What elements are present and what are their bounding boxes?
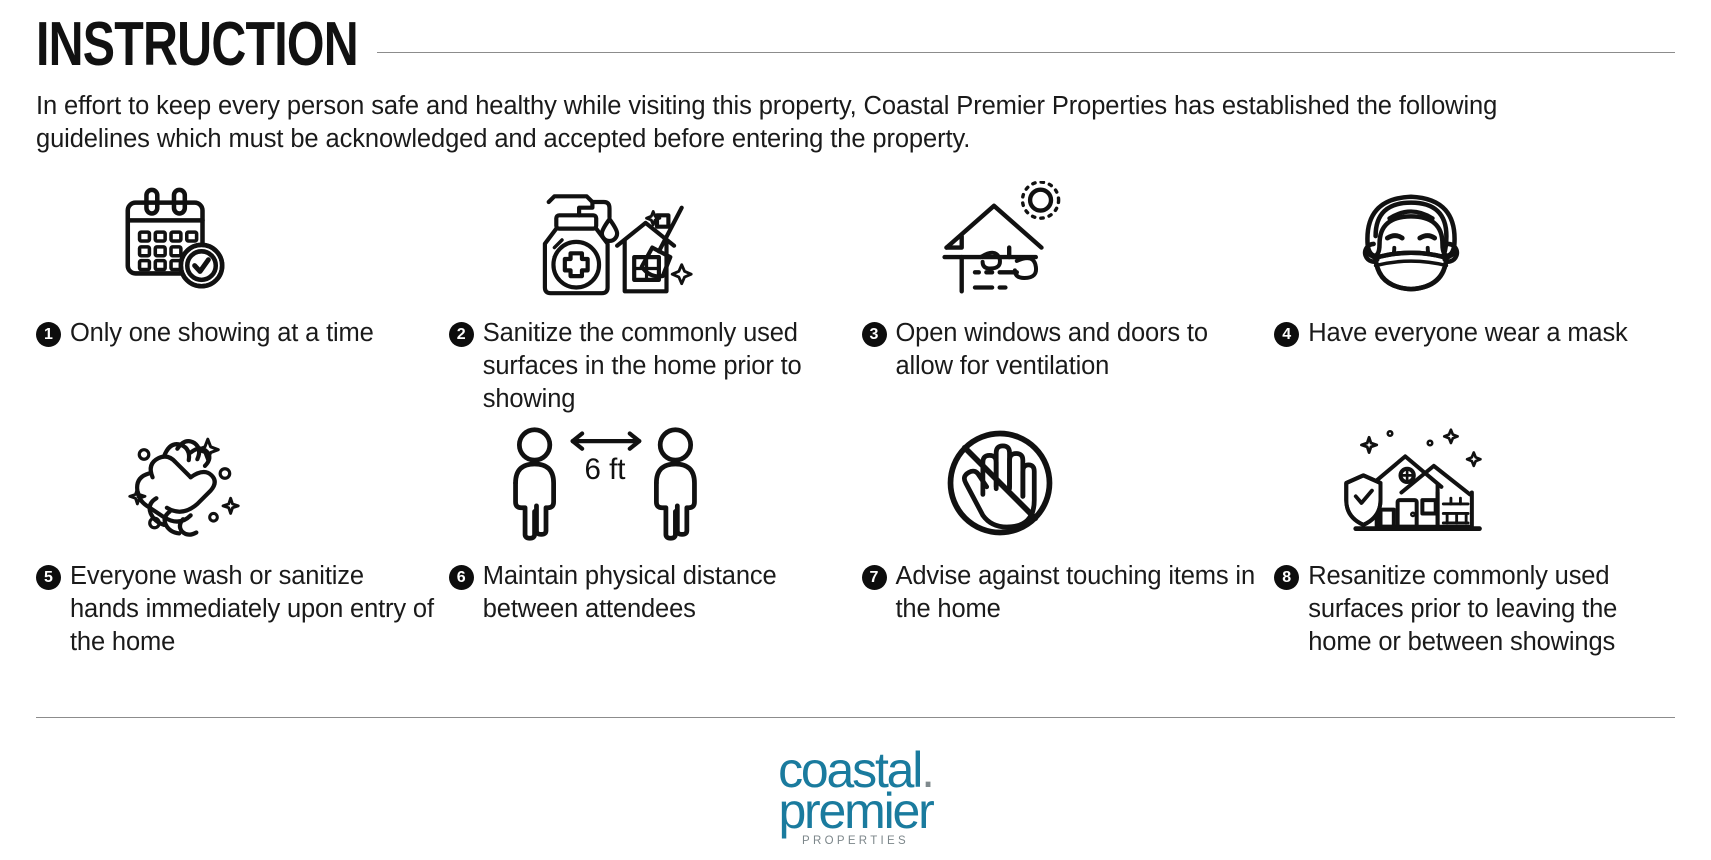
item-label-2: Sanitize the commonly used surfaces in t… xyxy=(483,317,850,416)
guideline-item-2: 2 Sanitize the commonly used surfaces in… xyxy=(449,181,850,416)
guideline-item-1: 1 Only one showing at a time xyxy=(36,181,437,416)
instruction-page: INSTRUCTION In effort to keep every pers… xyxy=(0,0,1711,860)
icon-container-6: 6 ft xyxy=(449,424,850,542)
item-label-3: Open windows and doors to allow for vent… xyxy=(896,317,1263,383)
coastal-premier-logo: coastal. premier PROPERTIES xyxy=(36,718,1675,860)
item-label-8: Resanitize commonly used surfaces prior … xyxy=(1308,560,1675,659)
no-touching-hand-icon xyxy=(940,424,1060,542)
icon-container-4 xyxy=(1274,181,1675,299)
icon-container-1 xyxy=(36,181,437,299)
face-with-mask-icon xyxy=(1352,181,1470,299)
page-header: INSTRUCTION xyxy=(36,0,1675,76)
item-label-7: Advise against touching items in the hom… xyxy=(896,560,1263,626)
distance-caption: 6 ft xyxy=(584,453,625,486)
item-number-badge-1: 1 xyxy=(36,322,61,347)
calendar-check-icon xyxy=(114,181,232,299)
item-label-4: Have everyone wear a mask xyxy=(1308,317,1627,350)
item-number-badge-2: 2 xyxy=(449,322,474,347)
item-label-6: Maintain physical distance between atten… xyxy=(483,560,850,626)
icon-container-3 xyxy=(862,181,1263,299)
page-footer: coastal. premier PROPERTIES xyxy=(36,717,1675,860)
house-sun-wind-ventilation-icon xyxy=(918,181,1070,299)
item-text-1: 1 Only one showing at a time xyxy=(36,317,437,350)
icon-container-5 xyxy=(36,424,437,542)
logo-coastal-text: coastal xyxy=(778,742,921,798)
icon-container-2 xyxy=(449,181,850,299)
icon-container-7 xyxy=(862,424,1263,542)
item-number-badge-5: 5 xyxy=(36,565,61,590)
sanitized-house-shield-icon xyxy=(1330,424,1490,542)
social-distance-six-feet-icon: 6 ft xyxy=(505,424,705,542)
page-title: INSTRUCTION xyxy=(36,14,358,76)
guideline-item-7: 7 Advise against touching items in the h… xyxy=(862,424,1263,659)
logo-subtitle: PROPERTIES xyxy=(802,835,909,847)
guideline-item-8: 8 Resanitize commonly used surfaces prio… xyxy=(1274,424,1675,659)
item-text-2: 2 Sanitize the commonly used surfaces in… xyxy=(449,317,850,416)
logo-dot: . xyxy=(921,742,933,798)
item-label-1: Only one showing at a time xyxy=(70,317,374,350)
washing-hands-icon xyxy=(114,424,254,542)
item-text-7: 7 Advise against touching items in the h… xyxy=(862,560,1263,626)
logo-line-coastal: coastal. xyxy=(778,749,933,792)
intro-paragraph: In effort to keep every person safe and … xyxy=(36,90,1536,155)
item-text-6: 6 Maintain physical distance between att… xyxy=(449,560,850,626)
guideline-item-3: 3 Open windows and doors to allow for ve… xyxy=(862,181,1263,416)
item-text-5: 5 Everyone wash or sanitize hands immedi… xyxy=(36,560,437,659)
sanitizer-bottle-house-broom-icon xyxy=(505,181,695,299)
guideline-item-4: 4 Have everyone wear a mask xyxy=(1274,181,1675,416)
item-number-badge-6: 6 xyxy=(449,565,474,590)
item-number-badge-3: 3 xyxy=(862,322,887,347)
item-number-badge-8: 8 xyxy=(1274,565,1299,590)
guidelines-grid: 1 Only one showing at a time xyxy=(36,181,1675,660)
item-text-8: 8 Resanitize commonly used surfaces prio… xyxy=(1274,560,1675,659)
item-number-badge-7: 7 xyxy=(862,565,887,590)
item-number-badge-4: 4 xyxy=(1274,322,1299,347)
title-divider xyxy=(377,52,1675,53)
guideline-item-5: 5 Everyone wash or sanitize hands immedi… xyxy=(36,424,437,659)
icon-container-8 xyxy=(1274,424,1675,542)
item-text-4: 4 Have everyone wear a mask xyxy=(1274,317,1675,350)
item-text-3: 3 Open windows and doors to allow for ve… xyxy=(862,317,1263,383)
item-label-5: Everyone wash or sanitize hands immediat… xyxy=(70,560,437,659)
guideline-item-6: 6 ft 6 Maintain physical distance betwee… xyxy=(449,424,850,659)
